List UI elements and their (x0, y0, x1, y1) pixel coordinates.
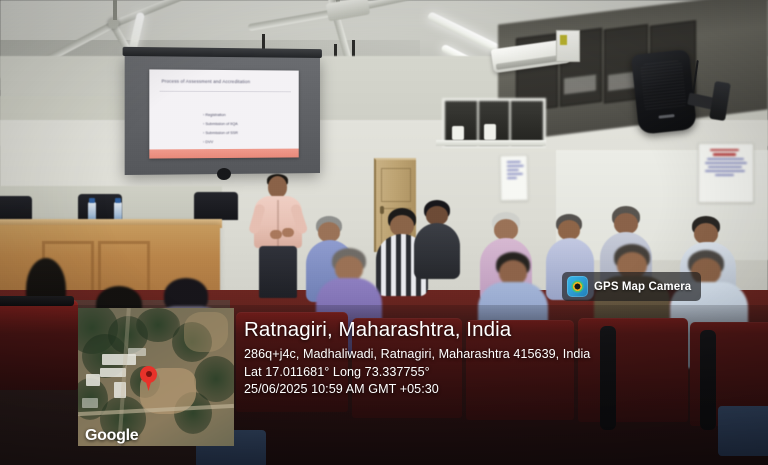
wall-notice (500, 155, 529, 201)
dais-chair (194, 192, 238, 220)
map-pin-icon (140, 366, 157, 383)
photo-canvas: Process of Assessment and Accreditation … (0, 0, 768, 465)
google-attribution: Google (85, 427, 138, 445)
screen-weight-knob (217, 168, 231, 180)
projection-screen: Process of Assessment and Accreditation … (125, 55, 320, 175)
map-thumbnail[interactable]: Google (78, 308, 234, 446)
gps-coordinates: Lat 17.011681° Long 73.337755° (244, 364, 758, 381)
gps-map-camera-app-icon (567, 276, 588, 297)
slide-bullet: Registration (203, 113, 291, 117)
gps-info-panel: Google Ratnagiri, Maharashtra, India 286… (0, 305, 768, 465)
wall-notice (698, 143, 754, 203)
slide-divider (160, 91, 291, 93)
gps-map-camera-watermark: GPS Map Camera (562, 272, 701, 301)
slide-bullet: Submission of IIQA (203, 122, 291, 126)
slide-title: Process of Assessment and Accreditation (162, 79, 291, 85)
ac-control-box (556, 30, 580, 62)
screen-roller-bar (123, 47, 322, 58)
fan-rod (113, 0, 117, 20)
slide-bullet: Submission of SSR (203, 131, 291, 135)
gps-map-camera-label: GPS Map Camera (594, 281, 691, 293)
presentation-slide: Process of Assessment and Accreditation … (149, 69, 298, 158)
gps-location-title: Ratnagiri, Maharashtra, India (244, 319, 758, 341)
pa-speaker (631, 49, 697, 135)
sill-object (484, 124, 496, 140)
gps-address: 286q+j4c, Madhaliwadi, Ratnagiri, Mahara… (244, 346, 674, 363)
slide-bullet: DVV (203, 140, 291, 144)
presenter (250, 176, 306, 300)
gps-text-block: Ratnagiri, Maharashtra, India 286q+j4c, … (244, 319, 758, 398)
window-sill (436, 140, 546, 146)
gps-timestamp: 25/06/2025 10:59 AM GMT +05:30 (244, 381, 758, 398)
slide-footer-band (149, 149, 298, 159)
sill-object (452, 126, 464, 140)
